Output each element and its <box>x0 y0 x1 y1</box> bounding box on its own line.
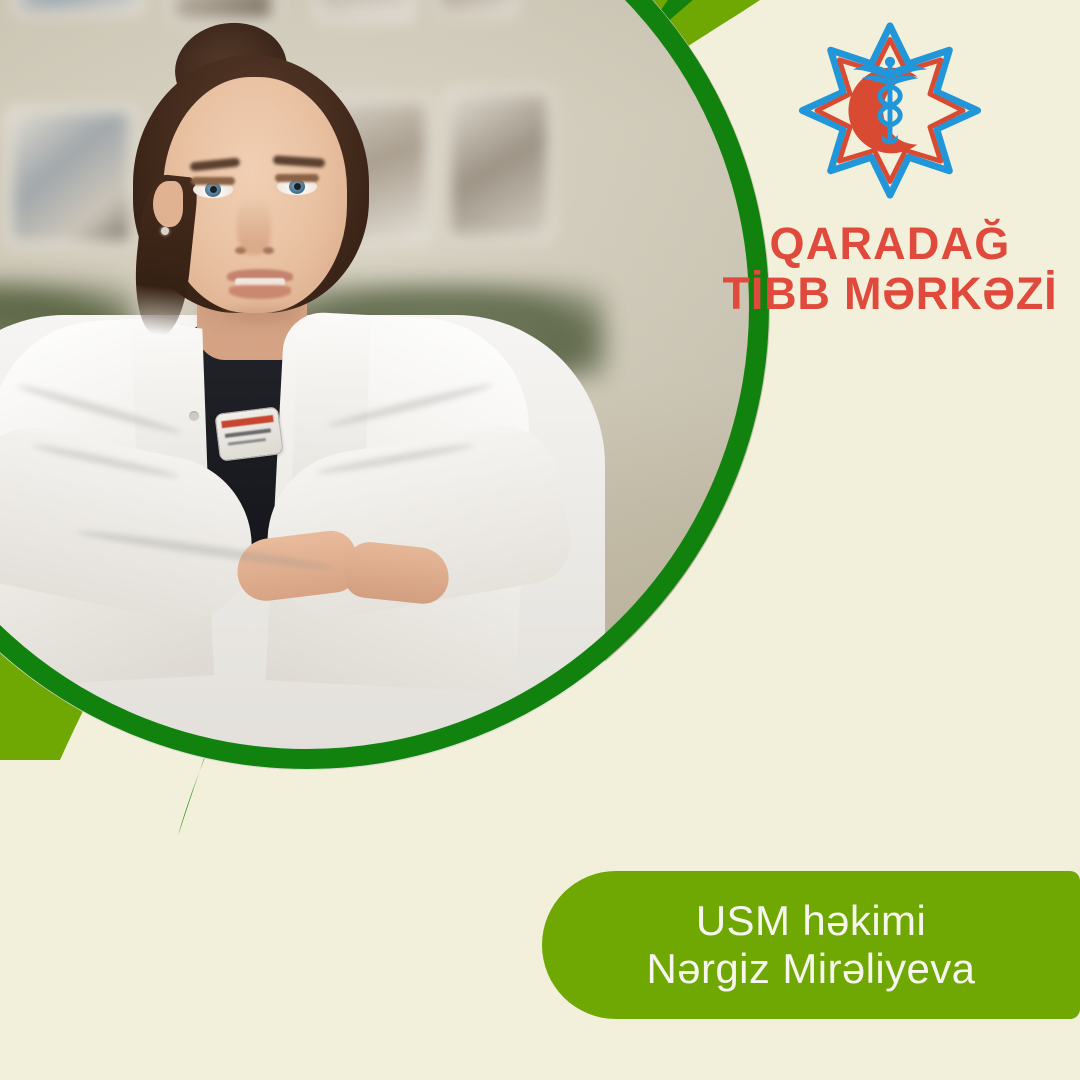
nostril <box>263 247 274 254</box>
nostril <box>235 247 246 254</box>
brand-line-2: TİBB MƏRKƏZİ <box>700 269 1080 319</box>
ear <box>153 181 183 227</box>
wall-frame <box>20 0 138 9</box>
coat-button <box>189 411 199 421</box>
caption-banner: USM həkimi Nərgiz Mirəliyeva <box>542 871 1080 1019</box>
eyelid-right <box>275 174 319 182</box>
earring <box>161 227 169 235</box>
photo-background <box>0 0 770 770</box>
caption-line-2: Nərgiz Mirəliyeva <box>647 945 976 993</box>
lower-lip <box>229 285 291 299</box>
brand-wordmark: QARADAĞ TİBB MƏRKƏZİ <box>700 219 1080 320</box>
eyelid-left <box>191 177 235 185</box>
pupil <box>294 183 301 190</box>
poster-canvas: QARADAĞ TİBB MƏRKƏZİ USM həkimi Nərgiz M… <box>0 0 1080 1080</box>
wall-frame <box>451 95 547 235</box>
pupil <box>210 186 217 193</box>
badge-text-line <box>225 428 271 438</box>
name-badge <box>214 406 283 461</box>
wall-frame <box>441 0 511 13</box>
brand-line-1: QARADAĞ <box>700 219 1080 269</box>
wall-frame <box>321 0 409 17</box>
brand-logo: QARADAĞ TİBB MƏRKƏZİ <box>700 18 1080 320</box>
chin-shadow <box>223 307 297 323</box>
badge-text-line <box>228 438 266 446</box>
wall-frame <box>13 113 129 241</box>
caption-line-1: USM həkimi <box>696 897 926 945</box>
doctor-photo <box>0 0 770 770</box>
qaradag-star-caduceus-icon <box>790 18 990 203</box>
wall-frame <box>175 0 271 17</box>
badge-header-stripe <box>221 415 273 428</box>
